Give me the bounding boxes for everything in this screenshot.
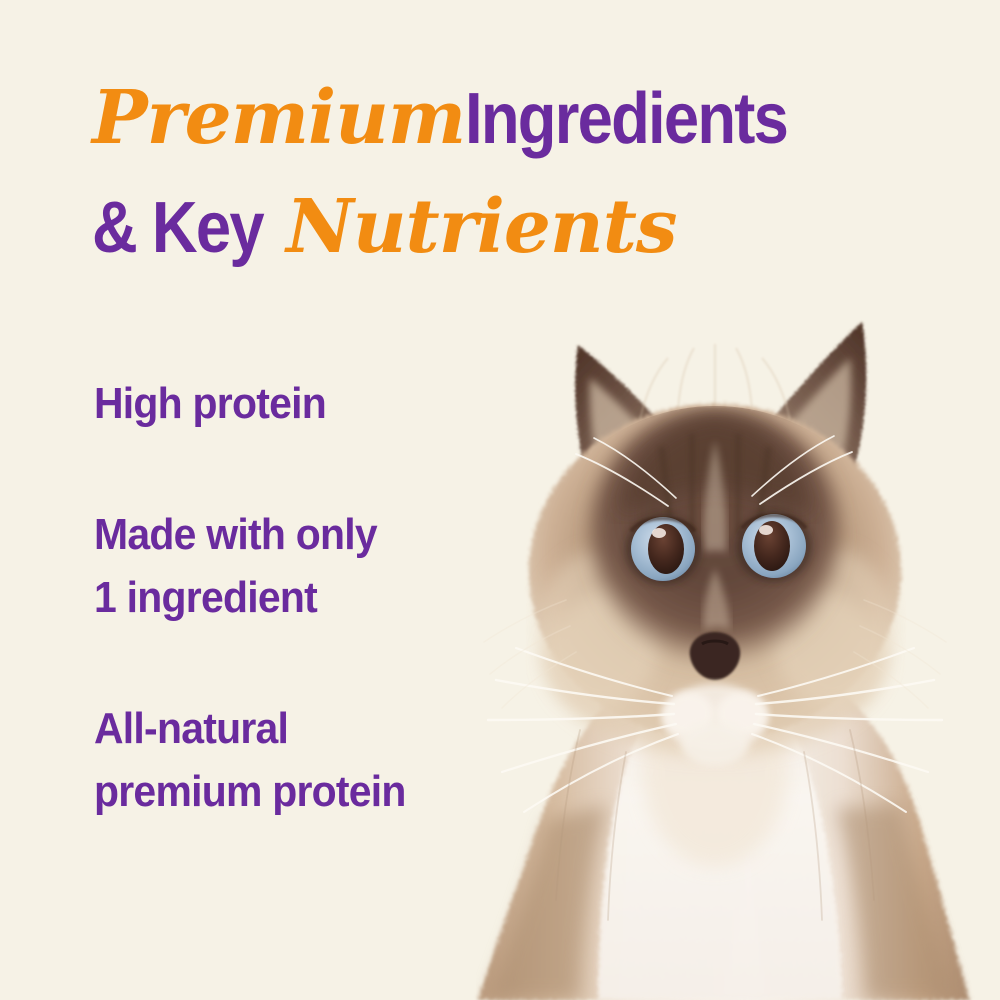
headline-accent-premium: Premium [92,75,465,161]
benefit-line: premium protein [94,760,531,823]
benefit-line: High protein [94,372,531,435]
benefit-line: Made with only [94,503,531,566]
benefit-item-high-protein: High protein [94,372,531,435]
benefit-item-all-natural: All-natural premium protein [94,697,531,823]
headline-main-ingredients: Ingredients [465,75,787,163]
page-title: PremiumIngredients & KeyNutrients [92,74,952,292]
headline-line-1: PremiumIngredients [92,74,952,183]
headline-line-2: & KeyNutrients [92,183,952,292]
headline-accent-nutrients: Nutrients [286,184,676,270]
promo-banner: PremiumIngredients & KeyNutrients High p… [0,0,1000,1000]
headline-main-and-key: & Key [92,184,263,272]
benefit-line: 1 ingredient [94,566,531,629]
benefit-item-one-ingredient: Made with only 1 ingredient [94,503,531,629]
benefit-line: All-natural [94,697,531,760]
benefit-list: High protein Made with only 1 ingredient… [94,372,564,823]
